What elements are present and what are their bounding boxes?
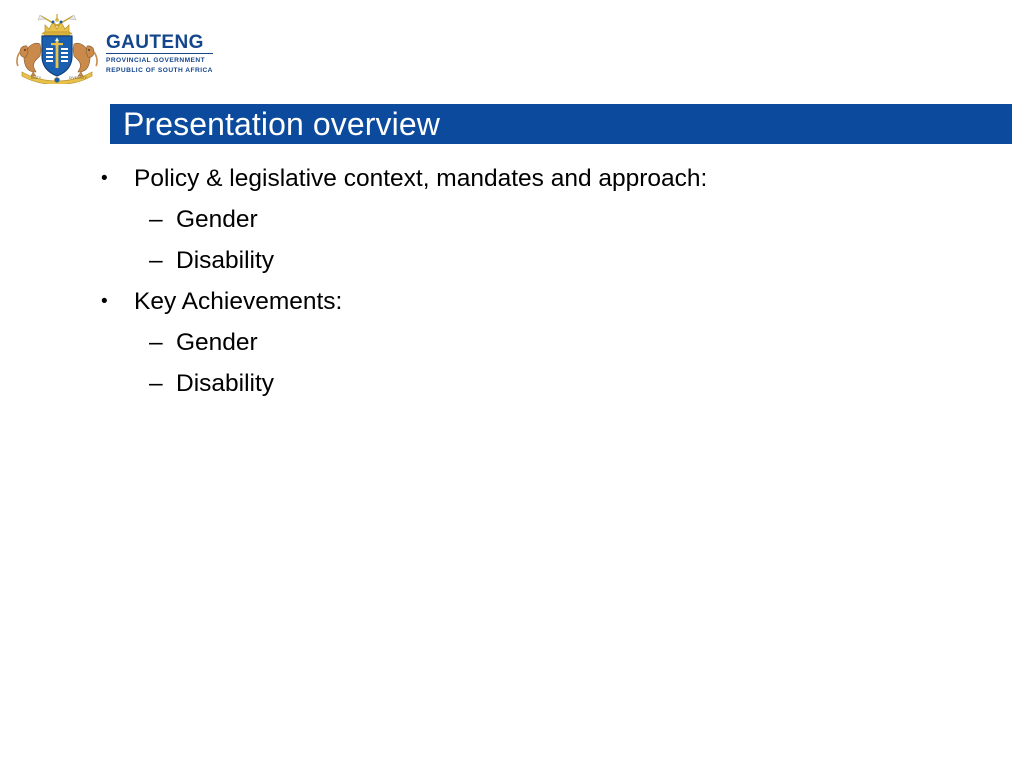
gauteng-coat-of-arms-icon: UNITY DIVERSITY (14, 12, 100, 84)
banner-text-right: DIVERSITY (69, 76, 88, 80)
dash-marker: – (149, 322, 176, 363)
banner-text-left: UNITY (31, 76, 42, 80)
list-item-label: Policy & legislative context, mandates a… (134, 158, 707, 199)
list-item-label: Key Achievements: (134, 281, 342, 322)
wordmark-subtitle-1: PROVINCIAL GOVERNMENT (106, 56, 213, 66)
slide-canvas: UNITY DIVERSITY GAUTENG PROVINCIAL GOVER… (0, 0, 1024, 768)
list-item: – Disability (96, 240, 976, 281)
list-item: – Gender (96, 199, 976, 240)
list-item: • Policy & legislative context, mandates… (96, 158, 976, 199)
gauteng-logo: UNITY DIVERSITY GAUTENG PROVINCIAL GOVER… (14, 12, 214, 84)
list-item: • Key Achievements: (96, 281, 976, 322)
list-item: – Gender (96, 322, 976, 363)
wordmark-title: GAUTENG (106, 33, 213, 54)
slide-title-bar: Presentation overview (110, 104, 1012, 144)
list-item: – Disability (96, 363, 976, 404)
dash-marker: – (149, 240, 176, 281)
dash-marker: – (149, 363, 176, 404)
dash-marker: – (149, 199, 176, 240)
bullet-marker: • (96, 158, 134, 199)
list-item-label: Disability (176, 240, 274, 281)
wordmark-subtitle-2: REPUBLIC OF SOUTH AFRICA (106, 66, 213, 76)
gauteng-wordmark: GAUTENG PROVINCIAL GOVERNMENT REPUBLIC O… (106, 21, 213, 76)
list-item-label: Disability (176, 363, 274, 404)
slide-content-list: • Policy & legislative context, mandates… (96, 158, 976, 404)
list-item-label: Gender (176, 199, 258, 240)
list-item-label: Gender (176, 322, 258, 363)
bullet-marker: • (96, 281, 134, 322)
page-title: Presentation overview (110, 108, 440, 140)
